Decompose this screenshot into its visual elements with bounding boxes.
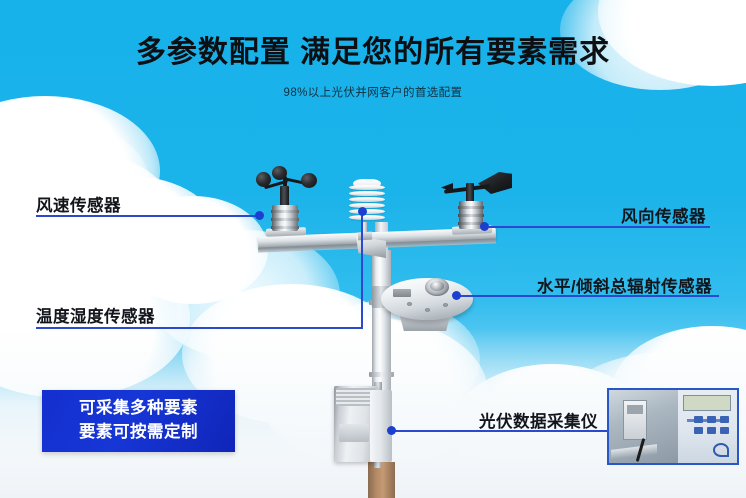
callout-dot-radiation-sensor [452,291,461,300]
callout-line-radiation-sensor [459,295,719,297]
callout-line-wind-direction-sensor [486,226,710,228]
mast-collar [369,372,394,377]
photo-keypad-button [720,416,729,423]
callout-dot-wind-direction-sensor [480,222,489,231]
photo-left-half [609,390,678,463]
photo-brand-logo-icon [713,443,729,457]
photo-panel-text [687,419,721,422]
callout-dot-wind-speed-sensor [255,211,264,220]
photo-keypad-button [720,427,729,434]
photo-keypad-button [694,427,703,434]
callout-label-temp-humidity-sensor: 温度湿度传感器 [36,303,155,327]
photo-rail [611,444,657,460]
callout-label-radiation-sensor: 水平/倾斜总辐射传感器 [537,273,712,297]
callout-dot-temp-humidity-sensor [358,207,367,216]
pv-data-logger-photo [607,388,739,465]
callout-line-pv-data-logger [393,430,609,432]
callout-label-wind-direction-sensor: 风向传感器 [621,203,706,227]
callout-line-temp-humidity-horizontal [36,327,363,329]
photo-lcd-screen [683,395,731,411]
data-logger-box-icon [334,380,394,462]
photo-right-panel [678,390,737,463]
callout-line-wind-speed-sensor [36,215,258,217]
promo-line-1: 可采集多种要素 [79,397,198,421]
product-banner: 多参数配置 满足您的所有要素需求 98%以上光伏并网客户的首选配置 [0,0,746,498]
photo-meter-device [623,400,647,440]
photo-keypad-button [707,427,716,434]
callout-line-temp-humidity-vertical [361,213,363,329]
pyranometer-disk-icon [381,272,473,334]
radiation-shield-icon [349,183,385,223]
callout-dot-pv-data-logger [387,426,396,435]
promo-badge: 可采集多种要素 要素可按需定制 [42,390,235,452]
callout-label-wind-speed-sensor: 风速传感器 [36,192,121,216]
radiation-shield-mount [358,232,372,241]
callout-label-pv-data-logger: 光伏数据采集仪 [479,408,598,432]
promo-line-2: 要素可按需定制 [79,421,198,445]
